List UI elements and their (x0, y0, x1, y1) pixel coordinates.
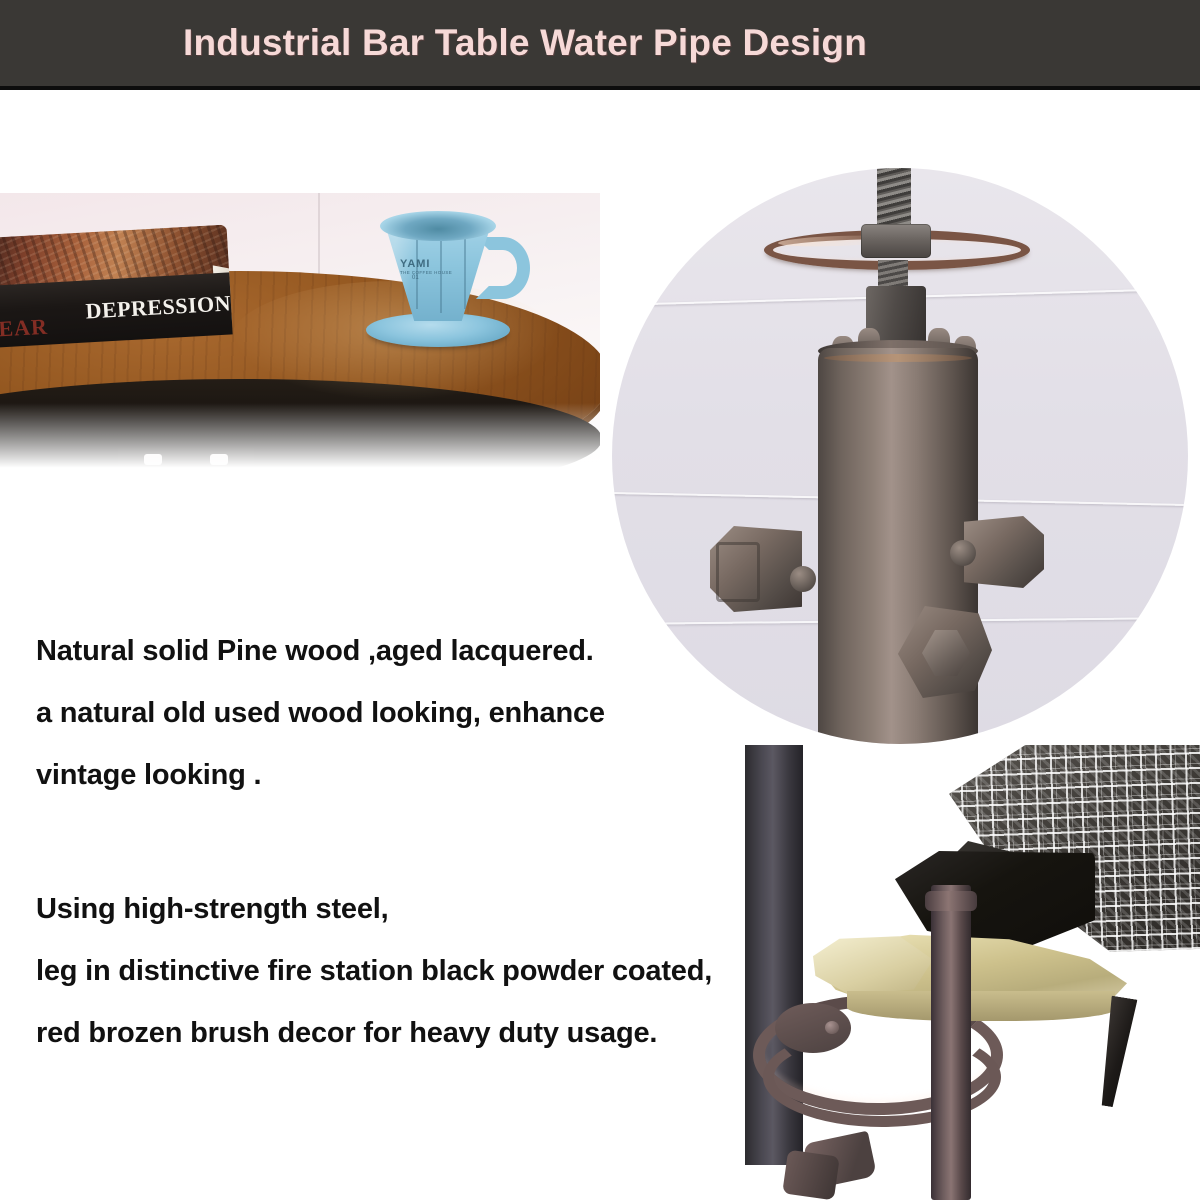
bolt-boss (790, 566, 816, 592)
pipe-collar (925, 891, 977, 911)
photo-valve-circle (612, 168, 1188, 744)
page-title: Industrial Bar Table Water Pipe Design (0, 22, 1200, 64)
cup-size-text: 01 (400, 275, 470, 281)
cup-rim (380, 211, 496, 241)
steel-line-1: Using high-strength steel, (36, 878, 712, 940)
gold-heel-shoe (817, 905, 1147, 1035)
weld-seam (824, 354, 972, 362)
book-spine: T FEAR DEPRESSION (0, 272, 233, 348)
hex-bolt-left-ridge (716, 542, 760, 602)
cup-brand-text: YAMI (400, 259, 470, 271)
hex-bolt-cap-right (964, 516, 1044, 588)
bolt-boss (950, 540, 976, 566)
photo-footrest (745, 745, 1200, 1200)
hex-nut-top (861, 224, 931, 258)
header-banner: Industrial Bar Table Water Pipe Design (0, 0, 1200, 90)
book-spine-text-right: DEPRESSION (85, 290, 232, 324)
coffee-cup-prop: YAMI THE COFFEE HOUSE 01 (358, 215, 538, 355)
photo-tabletop: T FEAR DEPRESSION YAMI THE COFFEE HOUSE … (0, 193, 600, 493)
shoe-sole (847, 991, 1115, 1021)
text-block-wood: Natural solid Pine wood ,aged lacquered.… (36, 620, 605, 806)
photo-bottom-fade (0, 403, 600, 493)
footrest-support-pipe (931, 885, 971, 1200)
steel-line-2: leg in distinctive fire station black po… (36, 940, 712, 1002)
wood-line-2: a natural old used wood looking, enhance (36, 682, 605, 744)
text-block-steel: Using high-strength steel, leg in distin… (36, 878, 712, 1064)
pipe-elbow-lower (782, 1150, 840, 1200)
cup-logo: YAMI THE COFFEE HOUSE 01 (400, 259, 470, 282)
wood-line-1: Natural solid Pine wood ,aged lacquered. (36, 620, 605, 682)
book-spine-text-left: T FEAR (0, 287, 57, 343)
wood-line-3: vintage looking . (36, 744, 605, 806)
book-prop: T FEAR DEPRESSION (0, 224, 245, 356)
steel-line-3: red brozen brush decor for heavy duty us… (36, 1002, 712, 1064)
